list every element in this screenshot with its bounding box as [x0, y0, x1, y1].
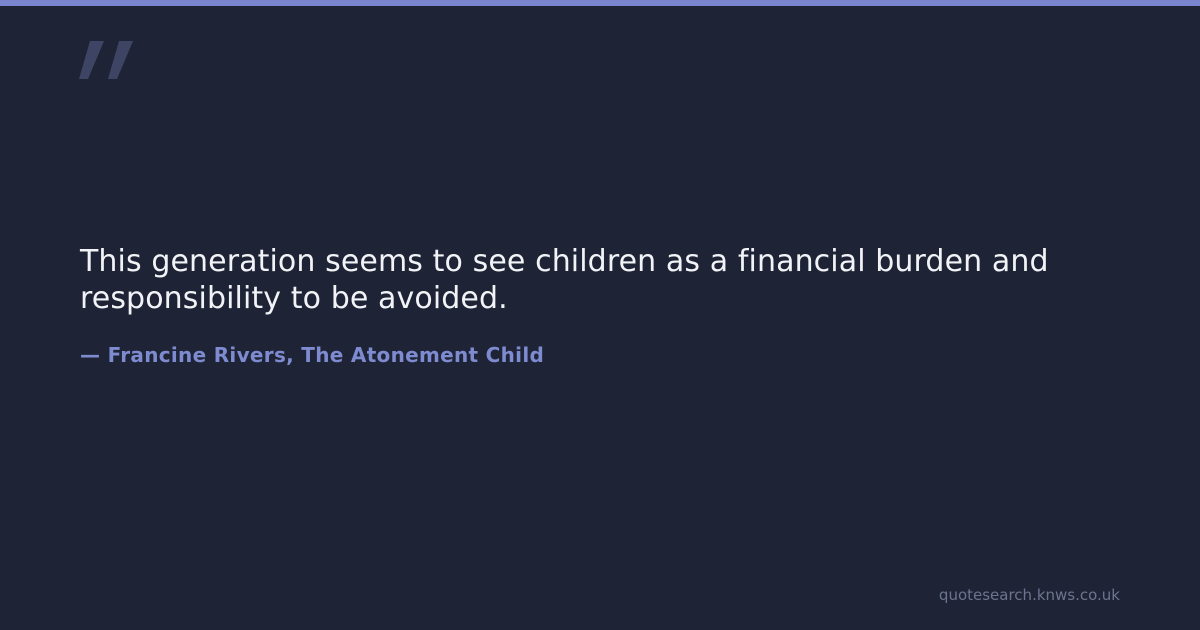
top-accent-bar — [0, 0, 1200, 6]
source-url: quotesearch.knws.co.uk — [939, 585, 1120, 605]
quote-text: This generation seems to see children as… — [80, 243, 1140, 317]
quote-body: This generation seems to see children as… — [80, 243, 1140, 368]
quote-attribution: — Francine Rivers, The Atonement Child — [80, 317, 1140, 368]
open-quote-icon — [79, 41, 133, 79]
quote-card: This generation seems to see children as… — [0, 0, 1200, 630]
